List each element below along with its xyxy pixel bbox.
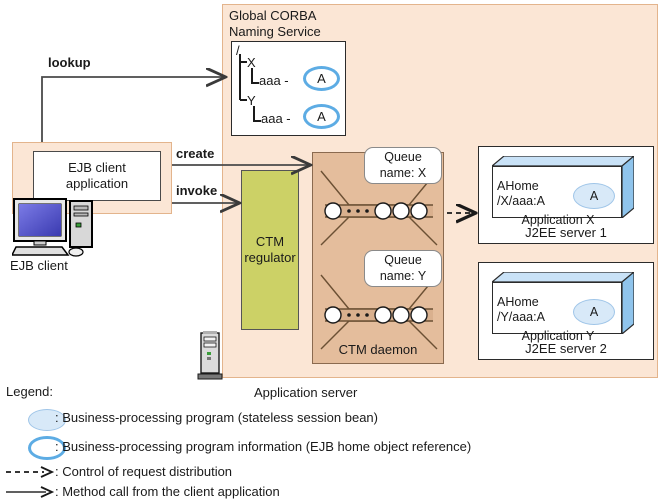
lookup-arrow-label: lookup (48, 55, 91, 70)
queue-callout-x-line1: Queue (373, 150, 433, 166)
j2ee-server-2-caption: J2EE server 2 (479, 341, 653, 356)
legend-item-request-distribution: : Control of request distribution (0, 462, 664, 482)
application-server-tower-icon (196, 330, 224, 380)
ejb-client-application-line1: EJB client (68, 160, 126, 176)
queue-callout-x-line2: name: X (373, 166, 433, 182)
application-y-face: AHome /Y/aaa:A Application Y A (492, 282, 622, 334)
ejb-home-reference-x-label: A (317, 71, 326, 86)
j2ee-server-2: AHome /Y/aaa:A Application Y A J2EE serv… (478, 262, 654, 360)
ctm-daemon-label: CTM daemon (313, 342, 443, 357)
naming-service-title-line1: Global CORBA (229, 8, 359, 24)
queue-callout-y-line1: Queue (373, 253, 433, 269)
ejb-home-reference-y-icon: A (303, 104, 340, 129)
ejb-client-application-line2: application (66, 176, 128, 192)
ejb-home-reference-x-icon: A (303, 66, 340, 91)
naming-tree-branch-x: X (247, 55, 256, 70)
application-y-path: /Y/aaa:A (497, 310, 545, 324)
legend-item-session-bean: : Business-processing program (stateless… (0, 406, 664, 432)
ejb-client-caption: EJB client (10, 258, 68, 273)
queue-callout-y-line2: name: Y (373, 269, 433, 285)
legend-item-session-bean-text: : Business-processing program (stateless… (55, 410, 378, 425)
application-x-home: AHome (497, 179, 539, 193)
legend-item-method-call: : Method call from the client applicatio… (0, 482, 664, 502)
legend-item-method-call-text: : Method call from the client applicatio… (55, 484, 280, 499)
dashed-arrow-icon (4, 462, 60, 482)
application-y-home: AHome (497, 295, 539, 309)
client-computer-icon (12, 197, 98, 259)
naming-service-panel: / X aaa - Y aaa - A A (231, 41, 346, 136)
legend-title: Legend: (6, 384, 53, 399)
j2ee-server-1-caption: J2EE server 1 (479, 225, 653, 240)
naming-service-title: Global CORBA Naming Service (229, 8, 359, 39)
j2ee-server-1: AHome /X/aaa:A Application X A J2EE serv… (478, 146, 654, 244)
session-bean-x-label: A (590, 189, 598, 203)
solid-arrow-icon (4, 482, 60, 502)
ctm-regulator-line2: regulator (244, 250, 295, 266)
application-server-caption: Application server (254, 385, 357, 400)
create-arrow-label: create (176, 146, 214, 161)
ejb-home-reference-y-label: A (317, 109, 326, 124)
legend-item-request-distribution-text: : Control of request distribution (55, 464, 232, 479)
naming-tree-root: / (236, 43, 240, 58)
queue-callout-y: Queue name: Y (364, 250, 442, 287)
naming-tree-branch-y: Y (247, 93, 256, 108)
application-x-path: /X/aaa:A (497, 194, 545, 208)
legend-item-home-reference-text: : Business-processing program informatio… (55, 439, 471, 454)
naming-tree-leaf-y: aaa - (261, 111, 291, 126)
session-bean-y-icon: A (573, 299, 615, 325)
application-y-cube: AHome /Y/aaa:A Application Y A (492, 272, 634, 334)
session-bean-x-icon: A (573, 183, 615, 209)
ctm-regulator-box: CTM regulator (241, 170, 299, 330)
application-x-face: AHome /X/aaa:A Application X A (492, 166, 622, 218)
legend-item-home-reference: : Business-processing program informatio… (0, 434, 664, 460)
naming-service-title-line2: Naming Service (229, 24, 359, 40)
session-bean-y-label: A (590, 305, 598, 319)
application-x-cube: AHome /X/aaa:A Application X A (492, 156, 634, 218)
ejb-client-application-box: EJB client application (33, 151, 161, 201)
ctm-regulator-line1: CTM (256, 234, 284, 250)
queue-callout-x: Queue name: X (364, 147, 442, 184)
naming-tree-leaf-x: aaa - (259, 73, 289, 88)
invoke-arrow-label: invoke (176, 183, 217, 198)
